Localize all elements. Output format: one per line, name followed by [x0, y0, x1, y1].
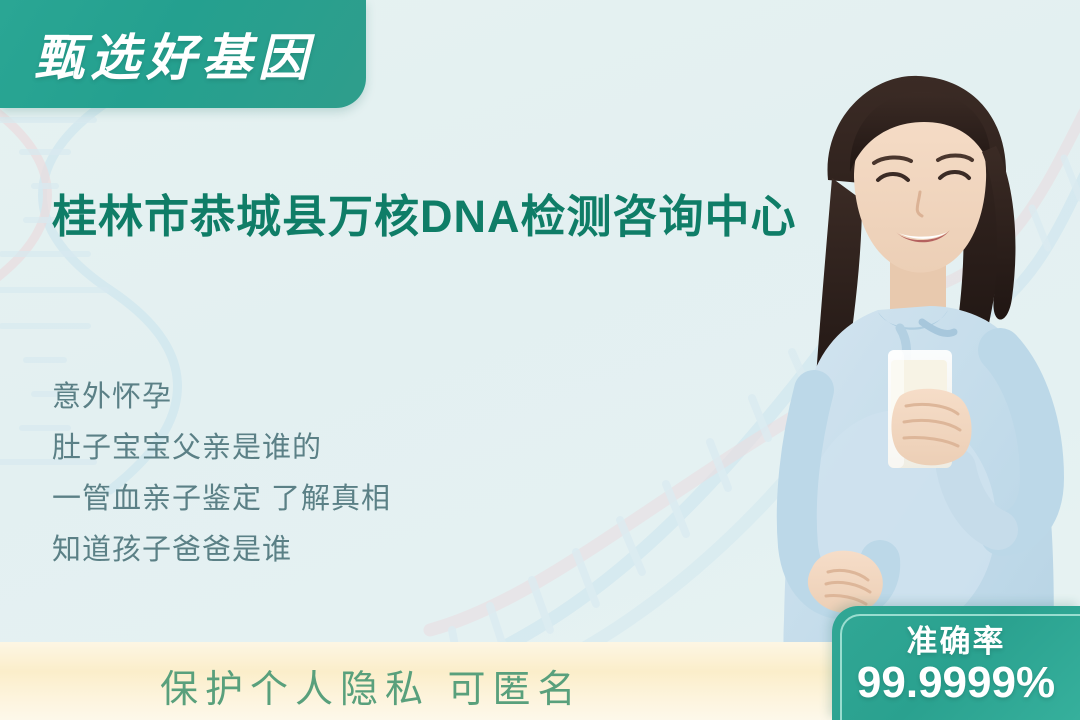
copy-block: 意外怀孕 肚子宝宝父亲是谁的 一管血亲子鉴定 了解真相 知道孩子爸爸是谁 [52, 372, 391, 576]
brand-badge: 甄选好基因 [0, 0, 366, 108]
accuracy-value: 99.9999% [832, 658, 1080, 708]
accuracy-label: 准确率 [832, 616, 1080, 661]
promo-banner: 甄选好基因 桂林市恭城县万核DNA检测咨询中心 意外怀孕 肚子宝宝父亲是谁的 一… [0, 0, 1080, 720]
page-title: 桂林市恭城县万核DNA检测咨询中心 [52, 188, 822, 247]
copy-line-1: 意外怀孕 [52, 372, 391, 423]
copy-line-3: 一管血亲子鉴定 了解真相 [52, 474, 391, 525]
privacy-note: 保护个人隐私 可匿名 [160, 658, 583, 713]
copy-line-2: 肚子宝宝父亲是谁的 [52, 423, 391, 474]
dna-helix-icon-right [940, 30, 1080, 360]
copy-line-4: 知道孩子爸爸是谁 [52, 525, 391, 576]
accuracy-badge: 准确率 99.9999% [832, 606, 1080, 720]
brand-badge-text: 甄选好基因 [34, 18, 314, 90]
dna-helix-icon-center [420, 300, 840, 700]
